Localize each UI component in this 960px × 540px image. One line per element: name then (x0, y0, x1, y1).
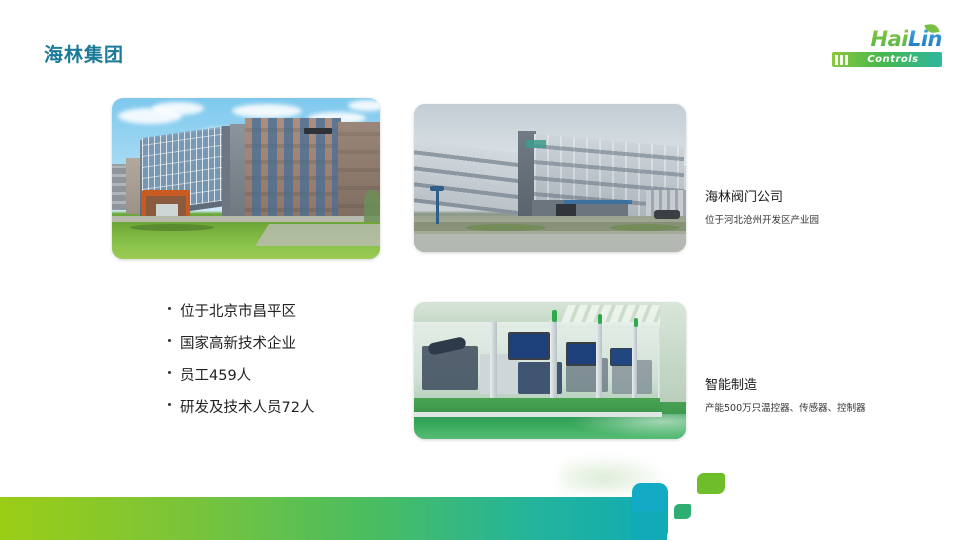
facts-bullet-list: 位于北京市昌平区 国家高新技术企业 员工459人 研发及技术人员72人 (128, 300, 468, 428)
page-title: 海林集团 (44, 40, 124, 67)
decorative-square-green (697, 473, 725, 494)
footer-notch-shape (632, 483, 668, 511)
decorative-square-teal (674, 504, 691, 519)
caption-subtext: 产能500万只温控器、传感器、控制器 (705, 402, 940, 416)
list-item: 位于北京市昌平区 (168, 300, 468, 321)
caption-heading: 智能制造 (705, 374, 940, 393)
hailin-controls-logo: HaiLin Controls (832, 28, 942, 70)
photo-headquarters-reflection (112, 259, 380, 289)
logo-text-hai: Hai (871, 27, 908, 51)
list-item: 员工459人 (168, 364, 468, 385)
list-item: 国家高新技术企业 (168, 332, 468, 353)
bars-icon (835, 55, 848, 65)
caption-heading: 海林阀门公司 (705, 186, 945, 205)
photo-headquarters-office-building (112, 98, 380, 259)
slide-canvas: 海林集团 HaiLin Controls (0, 0, 960, 540)
logo-tagline-bar: Controls (832, 52, 942, 67)
footer-gradient-band (0, 497, 667, 540)
photo-valve-company-reflection (414, 252, 686, 280)
logo-tagline-text: Controls (848, 54, 942, 65)
photo-valve-company-scene (414, 104, 686, 252)
photo-headquarters-scene (112, 98, 380, 259)
caption-smart-manufacturing: 智能制造 产能500万只温控器、传感器、控制器 (705, 374, 940, 416)
photo-valve-company-building (414, 104, 686, 252)
caption-valve-company: 海林阀门公司 位于河北沧州开发区产业园 (705, 186, 945, 228)
caption-subtext: 位于河北沧州开发区产业园 (705, 214, 945, 228)
logo-wordmark: HaiLin (832, 28, 942, 50)
list-item: 研发及技术人员72人 (168, 396, 468, 417)
